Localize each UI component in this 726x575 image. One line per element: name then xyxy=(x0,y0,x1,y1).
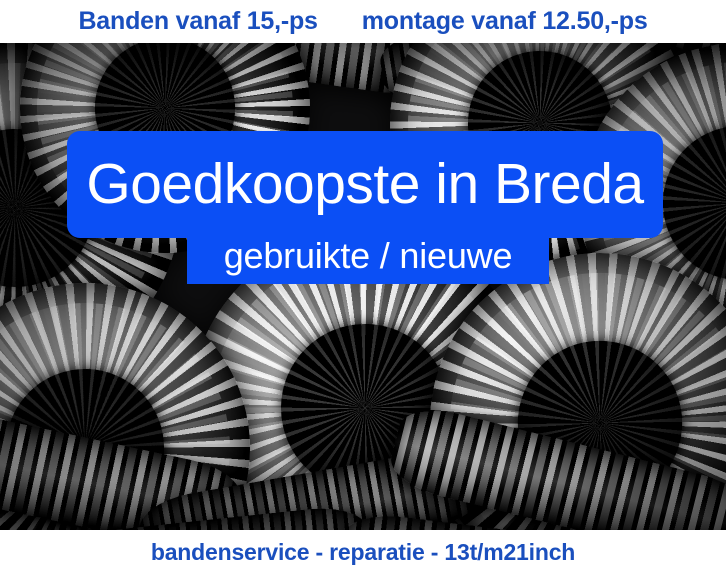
top-offer-bar: Banden vanaf 15,-ps montage vanaf 12.50,… xyxy=(0,0,726,43)
headline-plate: Goedkoopste in Breda xyxy=(67,131,663,238)
services-tag: bandenservice - reparatie - 13t/m21inch xyxy=(151,541,575,564)
hero-subtitle: gebruikte / nieuwe xyxy=(224,238,513,274)
tyre-photo-layer xyxy=(0,43,726,530)
offer-tag-mounting-price: montage vanaf 12.50,-ps xyxy=(362,9,648,34)
bottom-services-bar: bandenservice - reparatie - 13t/m21inch xyxy=(0,530,726,575)
advertisement-banner: Banden vanaf 15,-ps montage vanaf 12.50,… xyxy=(0,0,726,575)
offer-tag-tyres-price: Banden vanaf 15,-ps xyxy=(78,9,317,34)
tyre-photo-background xyxy=(0,43,726,530)
hero-headline: Goedkoopste in Breda xyxy=(86,156,643,213)
